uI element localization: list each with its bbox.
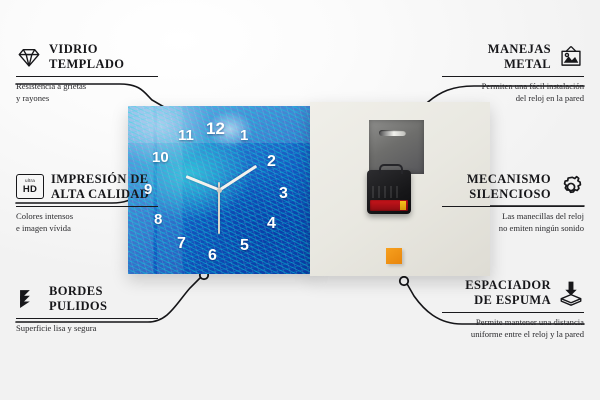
callout-description: Permiten una fácil instalación del reloj… <box>442 81 584 104</box>
callout-description: Las manecillas del reloj no emiten ningú… <box>442 211 584 234</box>
callout-espaciador-espuma: ESPACIADOR DE ESPUMA Permite mantener un… <box>442 278 584 340</box>
arrow-down-onto-pad-icon <box>558 280 584 306</box>
clock-numeral-8: 8 <box>154 212 162 227</box>
callout-description: Superficie lisa y segura <box>16 323 158 335</box>
clock-hour-hand <box>185 175 220 191</box>
infographic-canvas: 12 1 2 3 4 5 6 7 8 9 10 11 <box>0 0 600 400</box>
callout-vidrio-templado: VIDRIO TEMPLADO Resistencia a grietas y … <box>16 42 158 104</box>
callout-description: Colores intensos e imagen vívida <box>16 211 158 234</box>
callout-mecanismo-silencioso: MECANISMO SILENCIOSO Las manecillas del … <box>442 172 584 234</box>
clock-numeral-2: 2 <box>267 154 276 170</box>
callout-manejas-metal: MANEJAS METAL Permiten una fácil instala… <box>442 42 584 104</box>
clock-numeral-11: 11 <box>178 128 194 143</box>
clock-numeral-3: 3 <box>279 186 288 202</box>
clock-numeral-4: 4 <box>267 216 276 232</box>
clock-numeral-10: 10 <box>152 150 169 165</box>
hanger-keyhole-slot <box>379 130 406 136</box>
callout-bordes-pulidos: BORDES PULIDOS Superficie lisa y segura <box>16 284 158 335</box>
callout-header: MECANISMO SILENCIOSO <box>442 172 584 202</box>
callout-impresion-alta-calidad: ultra HD IMPRESIÓN DE ALTA CALIDAD Color… <box>16 172 158 234</box>
clock-numeral-12: 12 <box>206 120 225 137</box>
callout-header: ultra HD IMPRESIÓN DE ALTA CALIDAD <box>16 172 158 202</box>
callout-header: MANEJAS METAL <box>442 42 584 72</box>
polished-edges-icon <box>16 286 42 312</box>
callout-header: ESPACIADOR DE ESPUMA <box>442 278 584 308</box>
callout-divider <box>442 206 584 208</box>
ultra-hd-badge-icon: ultra HD <box>16 174 44 199</box>
marker-espaciador <box>400 277 408 285</box>
callout-title: BORDES PULIDOS <box>49 284 107 314</box>
callout-description: Permite mantener una distancia uniforme … <box>442 317 584 340</box>
clock-numeral-1: 1 <box>240 128 248 143</box>
callout-title: VIDRIO TEMPLADO <box>49 42 124 72</box>
foam-spacer-pad <box>386 248 402 264</box>
picture-frame-hanging-icon <box>558 44 584 70</box>
callout-header: BORDES PULIDOS <box>16 284 158 314</box>
callout-title: MANEJAS METAL <box>488 42 551 72</box>
callout-header: VIDRIO TEMPLADO <box>16 42 158 72</box>
callout-divider <box>16 318 158 320</box>
clock-minute-hand <box>218 165 257 191</box>
clock-numeral-6: 6 <box>208 248 217 264</box>
gear-icon <box>558 174 584 200</box>
callout-divider <box>16 76 158 78</box>
quartz-movement <box>367 170 411 214</box>
movement-hanger-tab <box>379 164 403 174</box>
callout-title: IMPRESIÓN DE ALTA CALIDAD <box>51 172 149 202</box>
callout-divider <box>442 312 584 314</box>
callout-description: Resistencia a grietas y rayones <box>16 81 158 104</box>
callout-title: ESPACIADOR DE ESPUMA <box>465 278 551 308</box>
clock-hand-cap <box>217 188 222 193</box>
clock-numeral-5: 5 <box>240 238 249 254</box>
movement-detail <box>372 186 402 198</box>
clock-numeral-7: 7 <box>177 236 186 252</box>
callout-divider <box>16 206 158 208</box>
hd-badge-main: HD <box>23 185 37 195</box>
callout-divider <box>442 76 584 78</box>
movement-red-label <box>370 200 408 211</box>
callout-title: MECANISMO SILENCIOSO <box>467 172 551 202</box>
diamond-icon <box>16 44 42 70</box>
clock-numeral-9: 9 <box>144 182 152 197</box>
